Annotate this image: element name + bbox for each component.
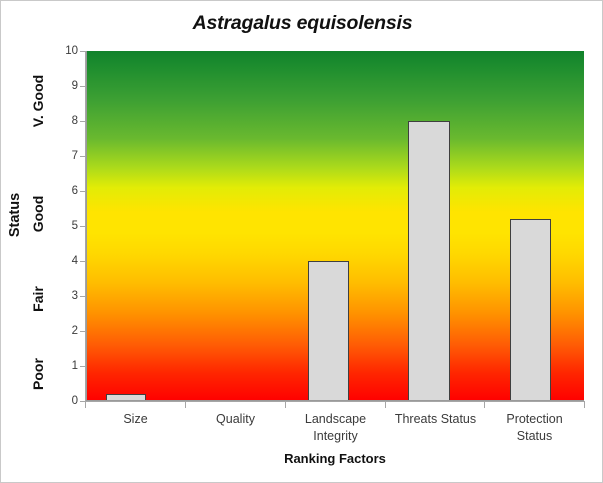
y-tick-label: 4 bbox=[48, 255, 78, 267]
x-tick-mark bbox=[285, 402, 286, 408]
bar-size bbox=[106, 394, 146, 401]
x-category-label-protection-status: Protection Status bbox=[485, 411, 584, 445]
y-tick-mark bbox=[80, 226, 85, 227]
bar-landscape-integrity bbox=[308, 261, 349, 401]
x-axis-line bbox=[85, 401, 585, 402]
x-tick-mark bbox=[484, 402, 485, 408]
y-tick-mark bbox=[80, 156, 85, 157]
x-tick-mark bbox=[85, 402, 86, 408]
x-category-label-quality: Quality bbox=[186, 411, 285, 428]
x-category-label-line: Status bbox=[485, 428, 584, 445]
y-tick-label: 7 bbox=[48, 150, 78, 162]
x-category-label-line: Size bbox=[86, 411, 185, 428]
x-axis-title: Ranking Factors bbox=[86, 451, 584, 466]
status-band-label-poor: Poor bbox=[30, 329, 46, 419]
y-tick-label: 9 bbox=[48, 80, 78, 92]
status-band-label-v-good: V. Good bbox=[30, 56, 46, 146]
y-tick-label: 0 bbox=[48, 395, 78, 407]
x-category-label-landscape-integrity: Landscape Integrity bbox=[286, 411, 385, 445]
x-category-label-line: Landscape bbox=[286, 411, 385, 428]
x-tick-mark bbox=[385, 402, 386, 408]
y-tick-label: 1 bbox=[48, 360, 78, 372]
x-category-label-line: Protection bbox=[485, 411, 584, 428]
bar-protection-status bbox=[510, 219, 551, 401]
y-tick-mark bbox=[80, 191, 85, 192]
y-tick-label: 2 bbox=[48, 325, 78, 337]
plot-area bbox=[86, 51, 584, 401]
y-tick-label: 3 bbox=[48, 290, 78, 302]
y-tick-label: 5 bbox=[48, 220, 78, 232]
y-tick-mark bbox=[80, 86, 85, 87]
x-category-label-line: Integrity bbox=[286, 428, 385, 445]
y-tick-mark bbox=[80, 296, 85, 297]
y-axis-line bbox=[85, 51, 86, 402]
y-tick-mark bbox=[80, 261, 85, 262]
bar-threats-status bbox=[408, 121, 450, 401]
y-axis-title: Status bbox=[7, 165, 23, 265]
x-category-label-line: Quality bbox=[186, 411, 285, 428]
x-category-label-size: Size bbox=[86, 411, 185, 428]
chart-title: Astragalus equisolensis bbox=[1, 12, 603, 35]
y-tick-mark bbox=[80, 121, 85, 122]
x-tick-mark bbox=[584, 402, 585, 408]
y-tick-mark bbox=[80, 51, 85, 52]
x-tick-mark bbox=[185, 402, 186, 408]
status-band-label-good: Good bbox=[30, 169, 46, 259]
y-tick-mark bbox=[80, 331, 85, 332]
y-tick-mark bbox=[80, 366, 85, 367]
y-tick-label: 10 bbox=[48, 45, 78, 57]
x-category-label-threats-status: Threats Status bbox=[386, 411, 485, 428]
y-tick-labels: 10 9 8 7 6 5 4 3 2 1 0 bbox=[46, 1, 78, 483]
chart-container: Astragalus equisolensis 10 9 8 7 6 5 4 3… bbox=[0, 0, 603, 483]
x-category-label-line: Threats Status bbox=[386, 411, 485, 428]
y-tick-label: 8 bbox=[48, 115, 78, 127]
y-tick-label: 6 bbox=[48, 185, 78, 197]
